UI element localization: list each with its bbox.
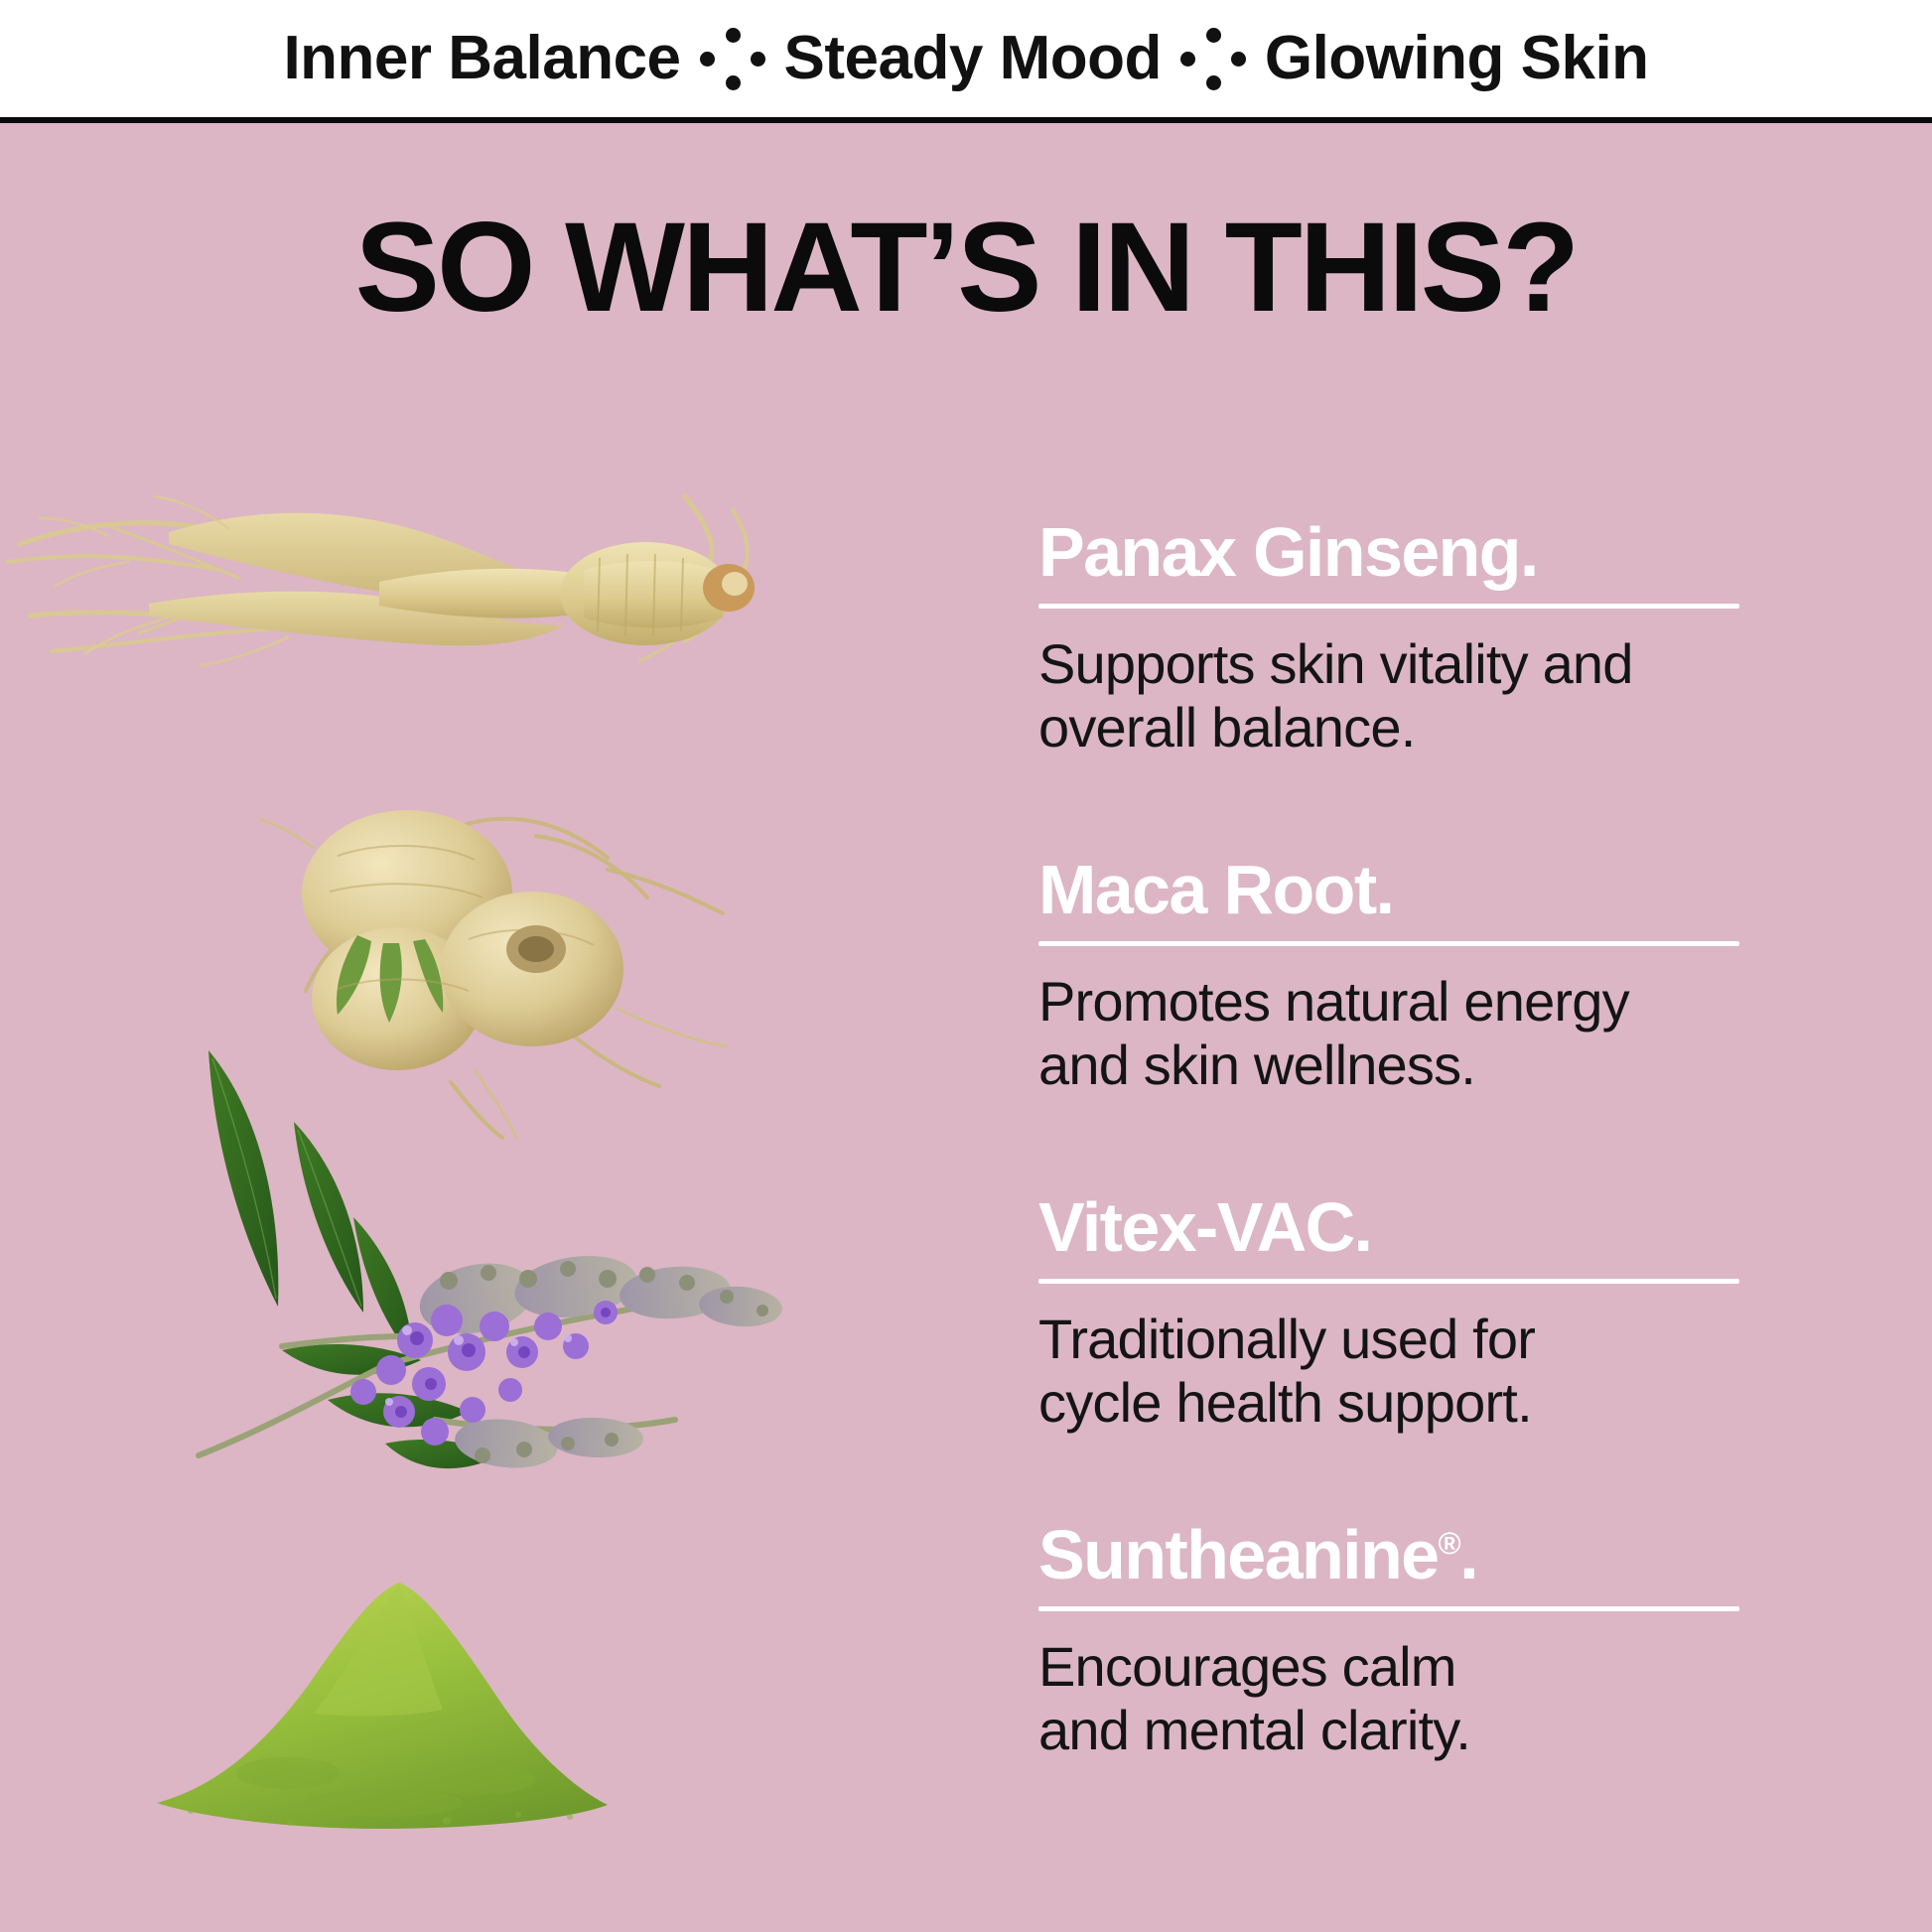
- ingredient-divider: [1038, 1606, 1739, 1611]
- ingredient-description-panax-ginseng: Supports skin vitality and overall balan…: [1038, 632, 1912, 761]
- desc-line-1: Promotes natural energy: [1038, 970, 1629, 1033]
- ingredients-infographic: Inner Balance Steady Mood Glowing Skin S…: [0, 0, 1932, 1932]
- ingredient-name-maca-root: Maca Root.: [1038, 854, 1912, 927]
- desc-line-2: cycle health support.: [1038, 1371, 1532, 1434]
- ingredient-divider: [1038, 941, 1739, 946]
- ingredient-description-suntheanine: Encourages calm and mental clarity.: [1038, 1635, 1912, 1764]
- desc-line-1: Encourages calm: [1038, 1635, 1456, 1698]
- ingredient-list: Panax Ginseng. Supports skin vitality an…: [0, 0, 1932, 1932]
- ingredient-description-maca-root: Promotes natural energy and skin wellnes…: [1038, 970, 1912, 1099]
- desc-line-2: and skin wellness.: [1038, 1034, 1475, 1096]
- ingredient-name-suntheanine: Suntheanine®.: [1038, 1519, 1912, 1592]
- ingredient-divider: [1038, 1279, 1739, 1284]
- ingredient-divider: [1038, 604, 1739, 609]
- desc-line-2: and mental clarity.: [1038, 1699, 1470, 1761]
- ingredient-description-vitex-vac: Traditionally used for cycle health supp…: [1038, 1308, 1912, 1437]
- ingredient-name-base: Suntheanine: [1038, 1516, 1438, 1593]
- desc-line-1: Supports skin vitality and: [1038, 632, 1633, 695]
- desc-line-2: overall balance.: [1038, 696, 1415, 759]
- ingredient-name-panax-ginseng: Panax Ginseng.: [1038, 516, 1912, 590]
- desc-line-1: Traditionally used for: [1038, 1308, 1535, 1370]
- ingredient-name-vitex-vac: Vitex-VAC.: [1038, 1191, 1912, 1265]
- registered-trademark-icon: ®: [1438, 1526, 1459, 1562]
